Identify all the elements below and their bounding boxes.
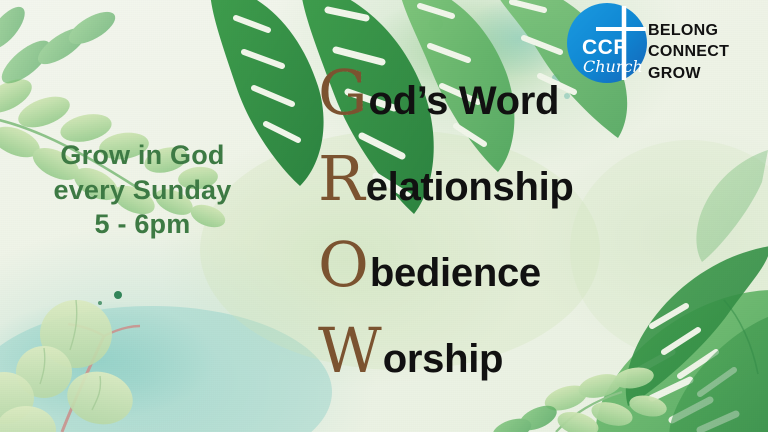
grow-text-obedience: bedience	[370, 253, 541, 293]
grow-text-relationship: elationship	[366, 167, 574, 207]
grow-acrostic: G od’s Word R elationship O bedience W o…	[318, 62, 738, 406]
service-info-line-2: every Sunday	[0, 173, 285, 208]
tagline-line-1: BELONG	[648, 20, 729, 41]
grow-row-god-word: G od’s Word	[318, 62, 738, 148]
grow-row-relationship: R elationship	[318, 148, 738, 234]
grow-cap-w: W	[318, 320, 382, 382]
logo-ccf-text: CCF	[582, 36, 627, 59]
grow-cap-r: R	[318, 148, 365, 210]
grow-cap-g: G	[318, 62, 368, 124]
service-info-line-1: Grow in God	[0, 138, 285, 173]
grow-text-worship: orship	[383, 339, 503, 379]
tagline-line-2: CONNECT	[648, 41, 729, 62]
service-info-line-3: 5 - 6pm	[0, 207, 285, 242]
grow-text-god-word: od’s Word	[369, 81, 560, 121]
grow-row-obedience: O bedience	[318, 234, 738, 320]
poster-canvas: CCF Church BELONG CONNECT GROW Grow in G…	[0, 0, 768, 432]
grow-row-worship: W orship	[318, 320, 738, 406]
service-info-block: Grow in God every Sunday 5 - 6pm	[0, 138, 285, 242]
grow-cap-o: O	[318, 234, 369, 296]
